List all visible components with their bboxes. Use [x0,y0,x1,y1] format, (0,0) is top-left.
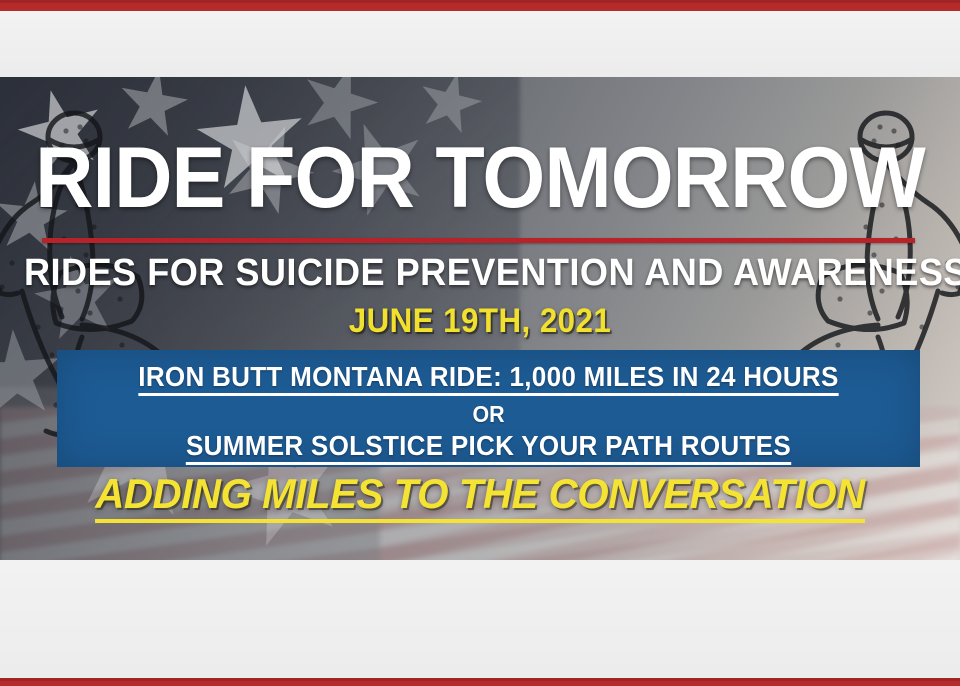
flyer-title: RIDE FOR TOMORROW [29,135,931,221]
ride-option-secondary: SUMMER SOLSTICE PICK YOUR PATH ROUTES [186,431,791,465]
bottom-red-rule-highlight [0,678,960,681]
lower-page-field [0,560,960,678]
flyer-tagline: ADDING MILES TO THE CONVERSATION [95,471,864,523]
ride-option-primary-row: IRON BUTT MONTANA RIDE: 1,000 MILES IN 2… [87,350,890,396]
flyer-date: JUNE 19TH, 2021 [38,303,921,339]
ride-options-panel: IRON BUTT MONTANA RIDE: 1,000 MILES IN 2… [57,350,920,467]
ride-option-conjunction: OR [87,396,890,427]
title-red-rule [42,238,915,243]
flyer-subtitle: RIDES FOR SUICIDE PREVENTION AND AWARENE… [24,253,936,293]
ride-option-primary: IRON BUTT MONTANA RIDE: 1,000 MILES IN 2… [138,362,838,396]
flyer-artwork: RIDE FOR TOMORROW RIDES FOR SUICIDE PREV… [0,77,960,560]
flyer-tagline-row: ADDING MILES TO THE CONVERSATION [19,471,941,523]
upper-page-field [0,11,960,77]
flyer-page: RIDE FOR TOMORROW RIDES FOR SUICIDE PREV… [0,0,960,686]
top-red-rule [0,0,960,11]
bottom-red-rule [0,678,960,686]
top-red-rule-highlight [0,0,960,3]
ride-option-secondary-row: SUMMER SOLSTICE PICK YOUR PATH ROUTES [87,427,890,465]
